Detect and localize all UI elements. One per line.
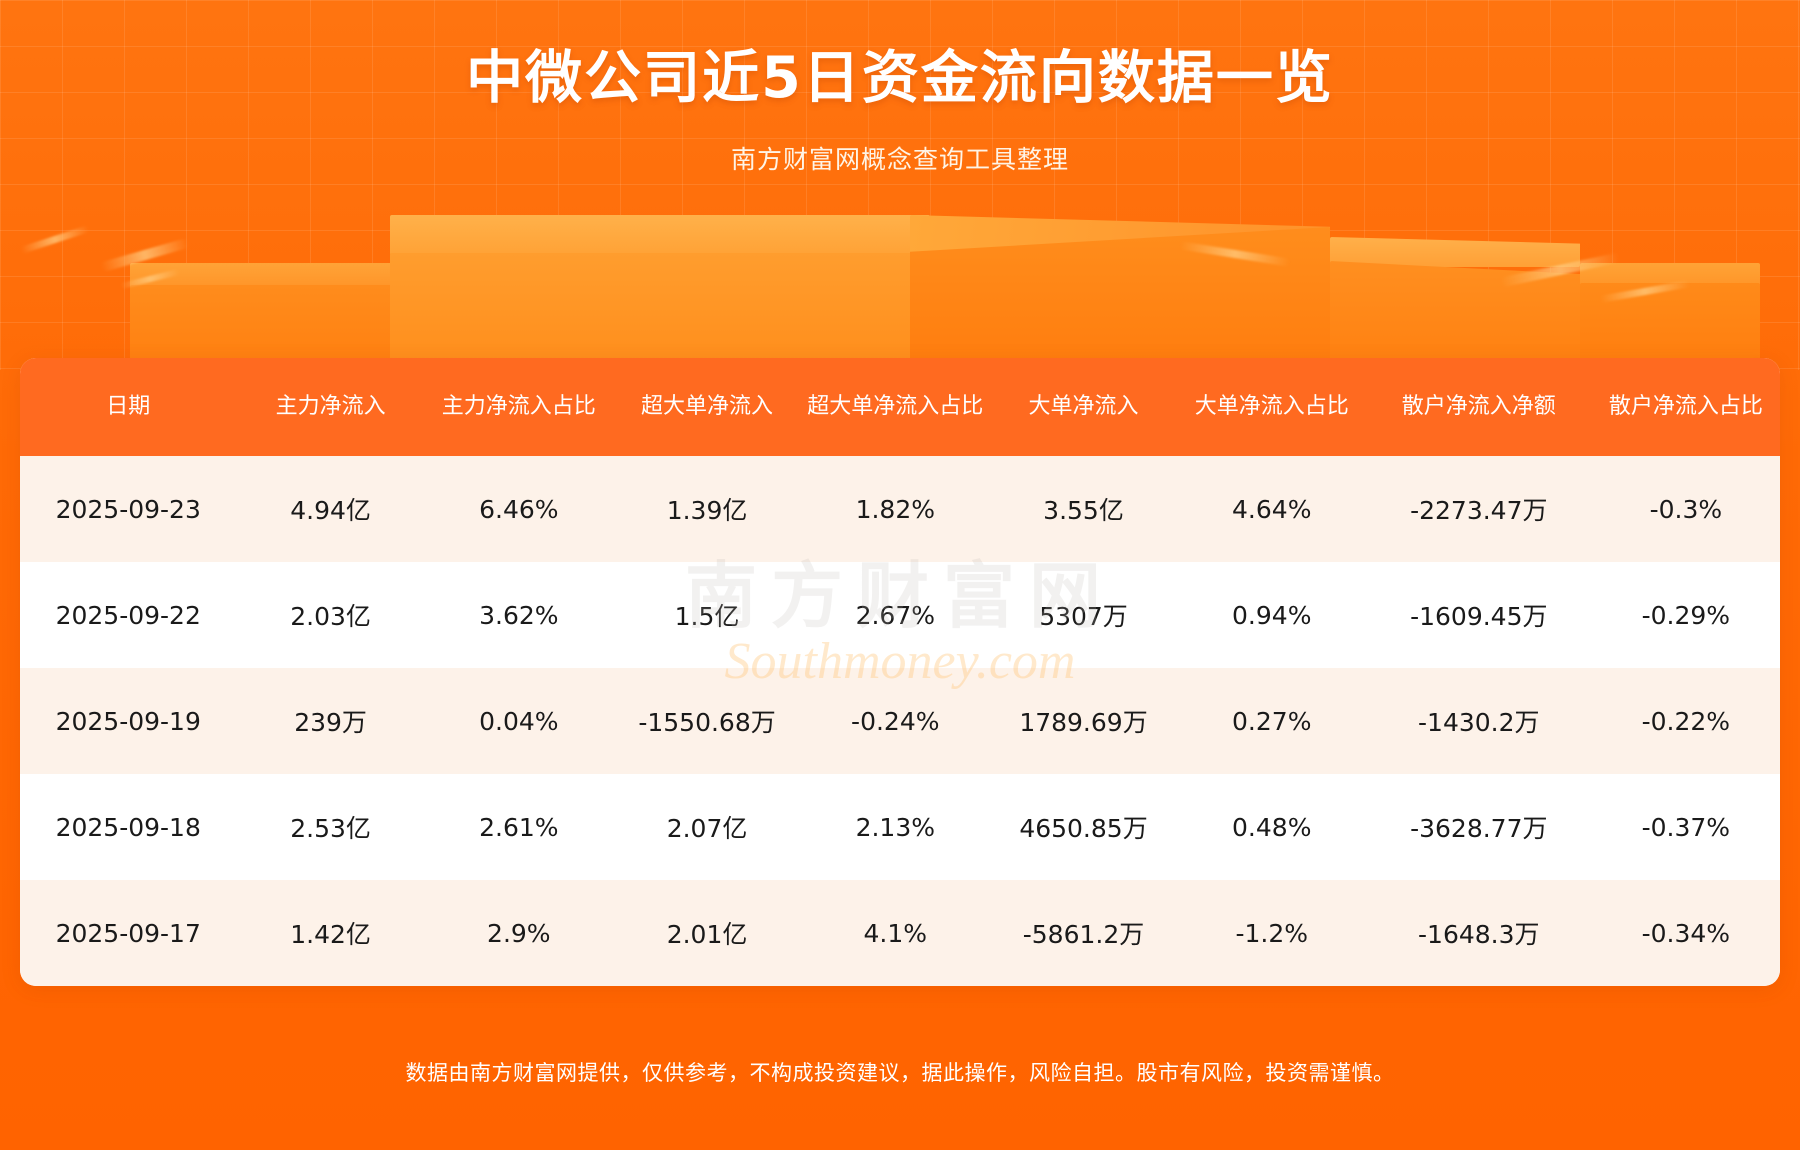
cell-retail-net: -1648.3万: [1366, 880, 1592, 986]
podium-block-far-right-top: [1580, 263, 1760, 287]
cell-main-net: 239万: [236, 668, 424, 774]
decorative-podium: [0, 215, 1800, 375]
cell-xl-pct: 2.13%: [801, 774, 989, 880]
footer: 数据由南方财富网提供，仅供参考，不构成投资建议，据此操作，风险自担。股市有风险，…: [20, 1057, 1780, 1087]
table-row: 2025-09-18 2.53亿 2.61% 2.07亿 2.13% 4650.…: [20, 774, 1780, 880]
cell-retail-net: -3628.77万: [1366, 774, 1592, 880]
table-header-row: 日期 主力净流入 主力净流入占比 超大单净流入 超大单净流入占比 大单净流入 大…: [20, 358, 1780, 456]
light-streak: [1500, 253, 1619, 288]
cell-xl-net: 1.39亿: [613, 456, 801, 562]
column-header-retail-pct: 散户净流入占比: [1592, 358, 1780, 456]
page-root: 中微公司近5日资金流向数据一览 南方财富网概念查询工具整理 日期 主力净流入 主…: [0, 0, 1800, 1150]
light-streak: [1600, 280, 1690, 303]
table-row: 2025-09-19 239万 0.04% -1550.68万 -0.24% 1…: [20, 668, 1780, 774]
cell-main-net: 1.42亿: [236, 880, 424, 986]
cell-lg-net: 5307万: [989, 562, 1177, 668]
cell-xl-net: 2.01亿: [613, 880, 801, 986]
cell-retail-pct: -0.29%: [1592, 562, 1780, 668]
cell-lg-pct: 0.94%: [1178, 562, 1366, 668]
cell-xl-pct: 4.1%: [801, 880, 989, 986]
hero-banner: 中微公司近5日资金流向数据一览 南方财富网概念查询工具整理: [0, 0, 1800, 176]
podium-block-right-top: [1330, 237, 1580, 267]
cell-date: 2025-09-19: [20, 668, 236, 774]
table-row: 2025-09-23 4.94亿 6.46% 1.39亿 1.82% 3.55亿…: [20, 456, 1780, 562]
cell-lg-pct: 4.64%: [1178, 456, 1366, 562]
cell-main-net: 4.94亿: [236, 456, 424, 562]
cell-xl-pct: -0.24%: [801, 668, 989, 774]
column-header-main-net: 主力净流入: [236, 358, 424, 456]
cell-lg-pct: 0.27%: [1178, 668, 1366, 774]
cell-xl-net: 1.5亿: [613, 562, 801, 668]
disclaimer-text: 数据由南方财富网提供，仅供参考，不构成投资建议，据此操作，风险自担。股市有风险，…: [406, 1061, 1395, 1085]
column-header-lg-net: 大单净流入: [989, 358, 1177, 456]
column-header-retail-net: 散户净流入净额: [1366, 358, 1592, 456]
cell-retail-pct: -0.34%: [1592, 880, 1780, 986]
cell-lg-net: 1789.69万: [989, 668, 1177, 774]
cell-main-pct: 3.62%: [425, 562, 613, 668]
cell-main-net: 2.03亿: [236, 562, 424, 668]
cell-date: 2025-09-17: [20, 880, 236, 986]
cell-retail-pct: -0.37%: [1592, 774, 1780, 880]
column-header-xl-pct: 超大单净流入占比: [801, 358, 989, 456]
page-subtitle: 南方财富网概念查询工具整理: [0, 112, 1800, 176]
cell-retail-pct: -0.22%: [1592, 668, 1780, 774]
data-table-card: 日期 主力净流入 主力净流入占比 超大单净流入 超大单净流入占比 大单净流入 大…: [20, 358, 1780, 986]
column-header-main-pct: 主力净流入占比: [425, 358, 613, 456]
light-streak: [21, 225, 90, 253]
cell-xl-net: 2.07亿: [613, 774, 801, 880]
cell-lg-net: 4650.85万: [989, 774, 1177, 880]
table-header: 日期 主力净流入 主力净流入占比 超大单净流入 超大单净流入占比 大单净流入 大…: [20, 358, 1780, 456]
cell-main-net: 2.53亿: [236, 774, 424, 880]
fund-flow-table: 日期 主力净流入 主力净流入占比 超大单净流入 超大单净流入占比 大单净流入 大…: [20, 358, 1780, 986]
page-title: 中微公司近5日资金流向数据一览: [0, 0, 1800, 112]
cell-lg-net: 3.55亿: [989, 456, 1177, 562]
cell-retail-pct: -0.3%: [1592, 456, 1780, 562]
column-header-lg-pct: 大单净流入占比: [1178, 358, 1366, 456]
cell-xl-pct: 1.82%: [801, 456, 989, 562]
light-streak: [100, 238, 189, 272]
cell-date: 2025-09-23: [20, 456, 236, 562]
table-body: 2025-09-23 4.94亿 6.46% 1.39亿 1.82% 3.55亿…: [20, 456, 1780, 986]
cell-lg-pct: -1.2%: [1178, 880, 1366, 986]
column-header-xl-net: 超大单净流入: [613, 358, 801, 456]
table-row: 2025-09-17 1.42亿 2.9% 2.01亿 4.1% -5861.2…: [20, 880, 1780, 986]
cell-xl-pct: 2.67%: [801, 562, 989, 668]
column-header-date: 日期: [20, 358, 236, 456]
cell-main-pct: 6.46%: [425, 456, 613, 562]
podium-block-left-top: [130, 263, 400, 289]
cell-main-pct: 2.9%: [425, 880, 613, 986]
cell-retail-net: -1430.2万: [1366, 668, 1592, 774]
podium-block-center-face: [910, 215, 1330, 257]
cell-main-pct: 0.04%: [425, 668, 613, 774]
podium-block-center-top: [390, 215, 930, 255]
cell-date: 2025-09-18: [20, 774, 236, 880]
cell-main-pct: 2.61%: [425, 774, 613, 880]
cell-lg-net: -5861.2万: [989, 880, 1177, 986]
cell-lg-pct: 0.48%: [1178, 774, 1366, 880]
cell-retail-net: -1609.45万: [1366, 562, 1592, 668]
table-row: 2025-09-22 2.03亿 3.62% 1.5亿 2.67% 5307万 …: [20, 562, 1780, 668]
light-streak: [1180, 241, 1290, 266]
cell-xl-net: -1550.68万: [613, 668, 801, 774]
cell-retail-net: -2273.47万: [1366, 456, 1592, 562]
cell-date: 2025-09-22: [20, 562, 236, 668]
light-streak: [120, 269, 180, 289]
